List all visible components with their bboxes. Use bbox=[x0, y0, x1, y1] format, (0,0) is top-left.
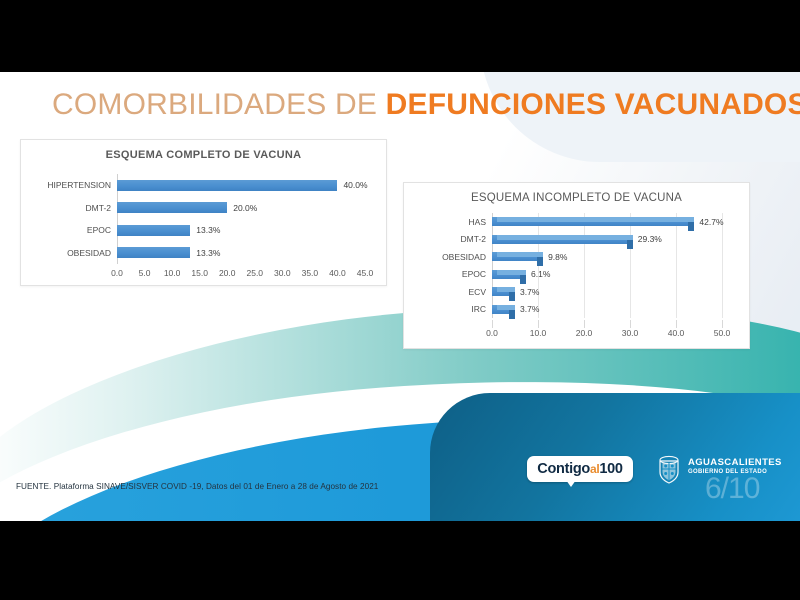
x-tick-label: 40.0 bbox=[662, 328, 690, 338]
x-tick-label: 35.0 bbox=[296, 268, 324, 278]
category-label: HIPERTENSION bbox=[21, 180, 111, 190]
category-label: OBESIDAD bbox=[404, 252, 486, 262]
x-tick-mark bbox=[722, 320, 723, 328]
x-tick-label: 5.0 bbox=[131, 268, 159, 278]
chart-right-plot: 42.7%29.3%9.8%6.1%3.7%3.7% bbox=[492, 213, 722, 318]
chart-esquema-incompleto: ESQUEMA INCOMPLETO DE VACUNA 42.7%29.3%9… bbox=[403, 182, 750, 349]
bar-value-label: 9.8% bbox=[548, 252, 567, 262]
x-tick-label: 45.0 bbox=[351, 268, 379, 278]
letterbox-top bbox=[0, 0, 800, 72]
x-tick-mark bbox=[492, 320, 493, 328]
bar-epoc bbox=[117, 225, 190, 236]
chart-left-plot: 40.0%20.0%13.3%13.3% bbox=[117, 174, 365, 264]
category-label: HAS bbox=[404, 217, 486, 227]
logo-contigo-tail bbox=[566, 480, 576, 487]
category-label: DMT-2 bbox=[404, 234, 486, 244]
bar-value-label: 42.7% bbox=[699, 217, 723, 227]
x-tick-label: 15.0 bbox=[186, 268, 214, 278]
x-tick-label: 10.0 bbox=[158, 268, 186, 278]
slide-title-light: COMORBILIDADES DE bbox=[52, 88, 386, 121]
bar-ecv bbox=[492, 287, 515, 301]
x-tick-label: 0.0 bbox=[478, 328, 506, 338]
bar-dmt-2 bbox=[492, 235, 633, 249]
slide-title: COMORBILIDADES DE DEFUNCIONES VACUNADOS bbox=[52, 88, 800, 122]
grid-line bbox=[722, 213, 723, 318]
bar-value-label: 3.7% bbox=[520, 287, 539, 297]
chart-right-title: ESQUEMA INCOMPLETO DE VACUNA bbox=[404, 192, 749, 204]
x-tick-mark bbox=[676, 320, 677, 328]
x-tick-label: 40.0 bbox=[323, 268, 351, 278]
source-note: FUENTE. Plataforma SINAVE/SISVER COVID -… bbox=[16, 482, 378, 491]
category-label: EPOC bbox=[21, 225, 111, 235]
x-tick-label: 50.0 bbox=[708, 328, 736, 338]
category-label: DMT-2 bbox=[21, 203, 111, 213]
bar-has bbox=[492, 217, 694, 231]
x-tick-mark bbox=[630, 320, 631, 328]
x-tick-label: 10.0 bbox=[524, 328, 552, 338]
category-label: IRC bbox=[404, 304, 486, 314]
bar-hipertension bbox=[117, 180, 337, 191]
bar-value-label: 29.3% bbox=[638, 234, 662, 244]
bar-obesidad bbox=[492, 252, 543, 266]
letterbox-bottom bbox=[0, 521, 800, 600]
category-label: OBESIDAD bbox=[21, 248, 111, 258]
x-tick-label: 0.0 bbox=[103, 268, 131, 278]
x-tick-label: 25.0 bbox=[241, 268, 269, 278]
bar-value-label: 6.1% bbox=[531, 269, 550, 279]
bar-irc bbox=[492, 305, 515, 319]
chart-left-title: ESQUEMA COMPLETO DE VACUNA bbox=[21, 149, 386, 161]
bar-value-label: 20.0% bbox=[233, 203, 257, 213]
category-label: EPOC bbox=[404, 269, 486, 279]
x-tick-label: 30.0 bbox=[268, 268, 296, 278]
bar-epoc bbox=[492, 270, 526, 284]
title-bar: COMORBILIDADES DE DEFUNCIONES VACUNADOS bbox=[0, 80, 800, 128]
logo-contigo-al-100: Contigoal100 bbox=[527, 456, 633, 482]
slide-title-bold: DEFUNCIONES VACUNADOS bbox=[386, 88, 800, 121]
bar-obesidad bbox=[117, 247, 190, 258]
logo-contigo-part1: Contigo bbox=[537, 461, 590, 477]
bar-value-label: 13.3% bbox=[196, 248, 220, 258]
bar-value-label: 40.0% bbox=[343, 180, 367, 190]
x-tick-label: 30.0 bbox=[616, 328, 644, 338]
logo-contigo-part3: 100 bbox=[599, 461, 622, 477]
slide-viewer: COMORBILIDADES DE DEFUNCIONES VACUNADOS … bbox=[0, 0, 800, 600]
bar-dmt-2 bbox=[117, 202, 227, 213]
x-tick-label: 20.0 bbox=[570, 328, 598, 338]
coat-of-arms-icon bbox=[655, 454, 683, 484]
category-label: ECV bbox=[404, 287, 486, 297]
x-tick-mark bbox=[538, 320, 539, 328]
page-number: 6/10 bbox=[705, 472, 759, 506]
presentation-slide: COMORBILIDADES DE DEFUNCIONES VACUNADOS … bbox=[0, 72, 800, 521]
x-tick-mark bbox=[584, 320, 585, 328]
bar-value-label: 3.7% bbox=[520, 304, 539, 314]
gobierno-line1: AGUASCALIENTES bbox=[688, 457, 782, 468]
x-tick-label: 20.0 bbox=[213, 268, 241, 278]
chart-esquema-completo: ESQUEMA COMPLETO DE VACUNA 40.0%20.0%13.… bbox=[20, 139, 387, 286]
bar-value-label: 13.3% bbox=[196, 225, 220, 235]
logo-contigo-part2: al bbox=[590, 462, 599, 476]
